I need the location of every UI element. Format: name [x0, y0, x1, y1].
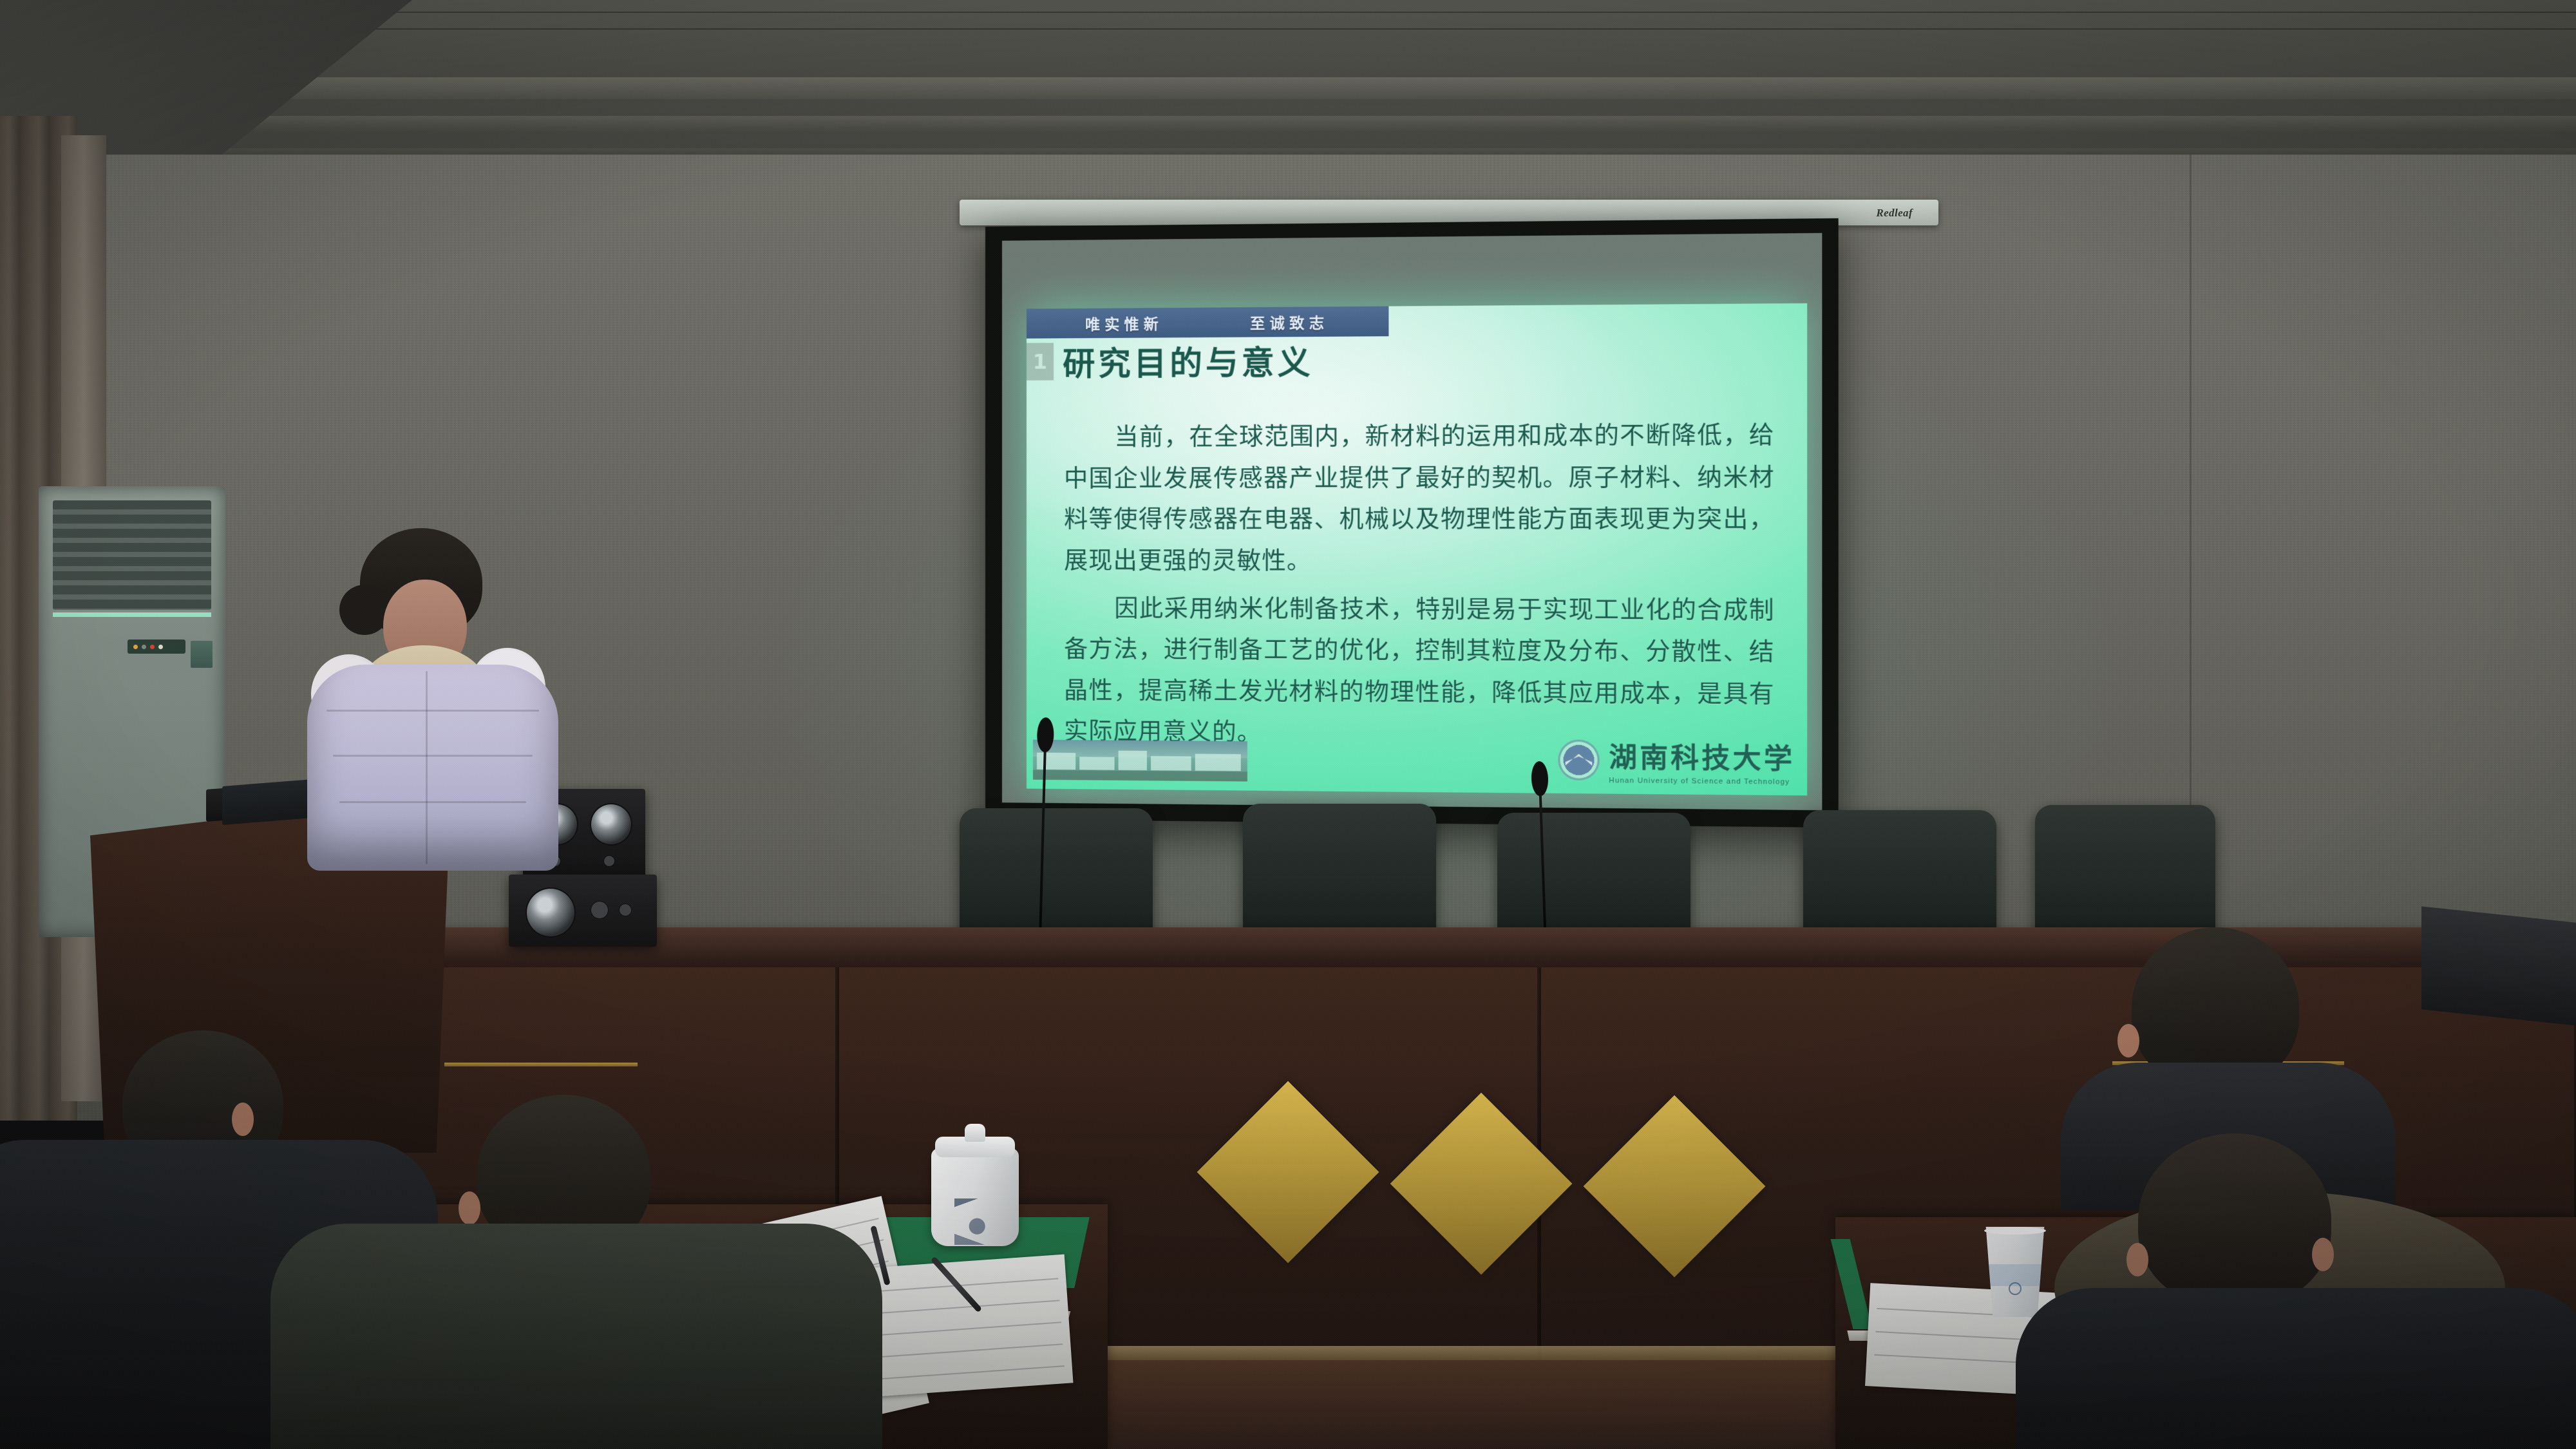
panel-chair-4[interactable] — [1803, 810, 1996, 947]
panel-chair-2[interactable] — [1243, 804, 1436, 947]
screen-brand-label: Redleaf — [1876, 207, 1913, 220]
ear-right — [2312, 1238, 2334, 1271]
ac-led-red — [150, 645, 155, 649]
slide-banner-left-text: 唯实惟新 — [1085, 312, 1163, 334]
slide-banner-right-text: 至诚致志 — [1250, 310, 1329, 333]
speaker-aux-knob[interactable] — [620, 904, 631, 916]
presenter-down-jacket — [307, 665, 558, 871]
teacup-pattern — [954, 1198, 996, 1245]
slide-title: 研究目的与意义 — [1063, 337, 1314, 385]
teacup-body — [931, 1148, 1019, 1246]
ear — [2117, 1024, 2139, 1057]
speaker-knob-right[interactable] — [604, 856, 614, 866]
projection-screen-surface: 唯实惟新 至诚致志 1 研究目的与意义 当前，在全球范围内，新材料的运用和成本的… — [1002, 233, 1822, 810]
ac-led-dim — [142, 645, 146, 649]
ear — [459, 1191, 480, 1225]
ac-side-grille — [191, 641, 213, 668]
ear — [232, 1103, 254, 1136]
university-name-en: Hunan University of Science and Technolo… — [1609, 777, 1795, 786]
panel-chair-5[interactable] — [2035, 805, 2215, 947]
university-emblem-icon — [1558, 739, 1599, 781]
ear-left — [2126, 1243, 2148, 1276]
panel-chair-1[interactable] — [960, 808, 1153, 947]
teacup-lid-knob[interactable] — [965, 1124, 985, 1142]
ac-led-amber — [133, 645, 138, 649]
slide-paragraph-1: 当前，在全球范围内，新材料的运用和成本的不断降低，给中国企业发展传感器产业提供了… — [1064, 415, 1774, 583]
speaker-cone-right — [591, 804, 631, 844]
ac-vent-louvers — [53, 500, 211, 610]
cornice-molding-mid — [0, 116, 2576, 133]
ac-led-white — [158, 645, 163, 649]
olive-coat — [270, 1224, 882, 1449]
audience-left-center — [309, 1095, 844, 1449]
slide-titlebar: 1 研究目的与意义 — [1027, 337, 1314, 385]
slide-body: 当前，在全球范围内，新材料的运用和成本的不断降低，给中国企业发展传感器产业提供了… — [1064, 415, 1774, 764]
cornice-molding-upper — [0, 77, 2576, 99]
slide-section-number: 1 — [1027, 343, 1054, 380]
projection-screen: 唯实惟新 至诚致志 1 研究目的与意义 当前，在全球范围内，新材料的运用和成本的… — [985, 218, 1839, 828]
right-furniture-edge — [2421, 906, 2576, 1025]
slide-banner: 唯实惟新 至诚致志 — [1027, 307, 1388, 339]
presenter — [293, 528, 570, 863]
presenter-hair-bun — [339, 585, 390, 635]
desk-felt-right — [1831, 1239, 1873, 1329]
presentation-slide: 唯实惟新 至诚致志 1 研究目的与意义 当前，在全球范围内，新材料的运用和成本的… — [1027, 303, 1807, 795]
ac-light-strip — [53, 612, 211, 617]
head — [2138, 1133, 2331, 1307]
conference-room-photo: Redleaf 唯实惟新 至诚致志 1 研究目的与意义 当前，在全球范围内，新材… — [0, 0, 2576, 1449]
speaker-volume-knob[interactable] — [591, 902, 608, 918]
parka — [2016, 1288, 2576, 1449]
ceramic-teacup[interactable] — [927, 1124, 1024, 1246]
panel-chair-3[interactable] — [1497, 813, 1690, 947]
speaker-cone-main — [527, 889, 574, 936]
slide-campus-photo — [1033, 740, 1247, 782]
slide-paragraph-2: 因此采用纳米化制备技术，特别是易于实现工业化的合成制备方法，进行制备工艺的优化，… — [1064, 588, 1774, 758]
speaker-lower — [509, 875, 657, 947]
ac-control-panel[interactable] — [128, 639, 185, 654]
slide-university-logo: 湖南科技大学 Hunan University of Science and T… — [1558, 735, 1795, 786]
university-name-cn: 湖南科技大学 — [1609, 735, 1795, 777]
audience-right-front — [1977, 1095, 2576, 1449]
table-gold-trim-left — [444, 1063, 638, 1066]
